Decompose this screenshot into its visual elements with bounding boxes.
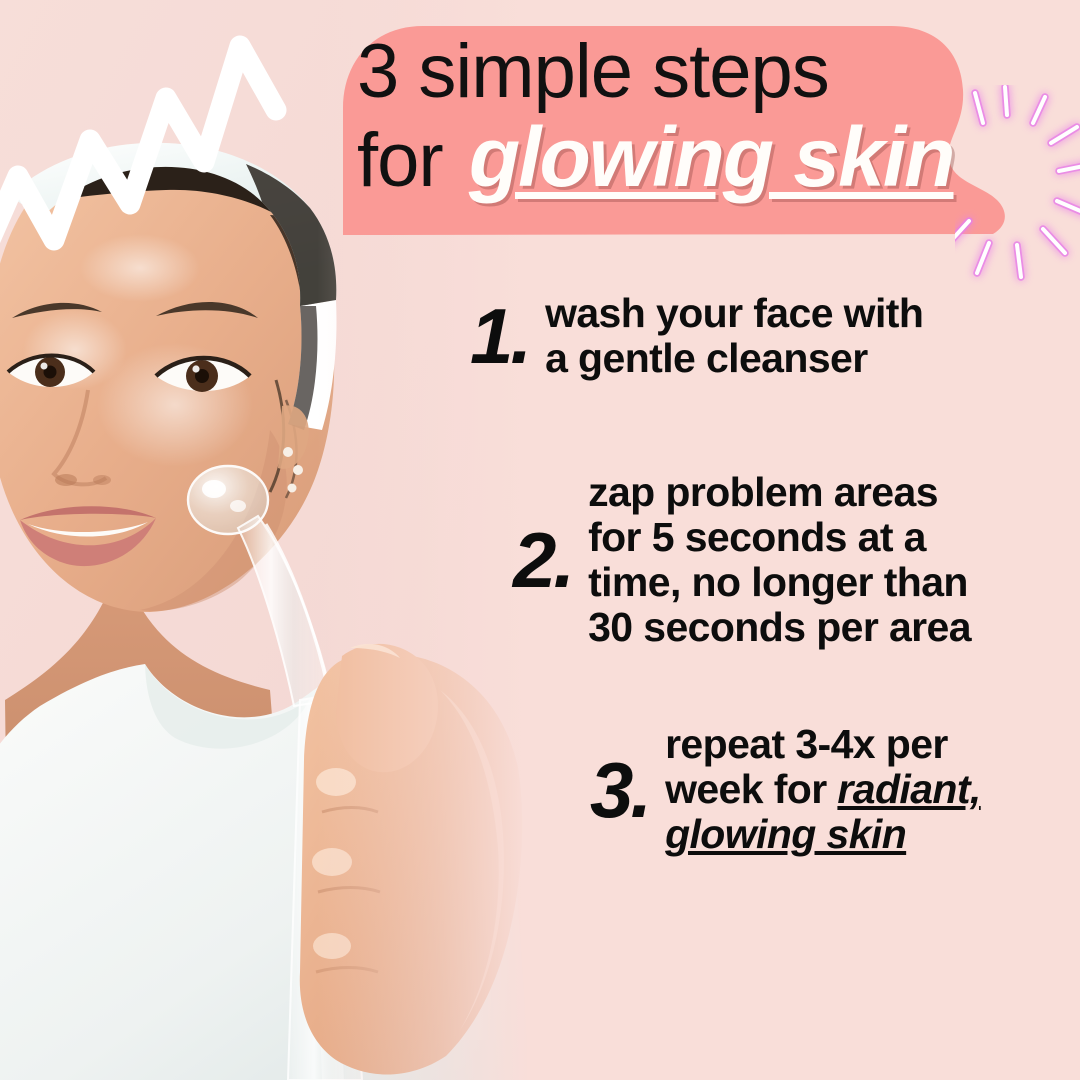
headline-line-1: 3 simple steps	[357, 30, 1023, 114]
step-3-line-2: week for radiant,	[665, 767, 981, 812]
lightning-zigzag-icon	[0, 0, 290, 290]
headline-line-2: for glowing skin	[357, 114, 1023, 204]
headline-prefix: for	[357, 118, 463, 203]
step-2: 2. zap problem areas for 5 seconds at a …	[513, 470, 971, 650]
headline-text-block: 3 simple steps for glowing skin	[343, 24, 1023, 237]
step-1-line-1: wash your face with	[545, 291, 923, 336]
poster-canvas: 3 simple steps for glowing skin	[0, 0, 1080, 1080]
step-3: 3. repeat 3-4x per week for radiant, glo…	[590, 722, 981, 857]
step-2-number: 2.	[513, 521, 572, 599]
step-3-number: 3.	[590, 751, 649, 829]
step-3-emphasis-glowing-skin: glowing skin	[665, 812, 981, 857]
step-3-line-1: repeat 3-4x per	[665, 722, 981, 767]
headline-highlight: glowing skin	[463, 110, 954, 204]
step-3-line-2-plain: week for	[665, 766, 837, 812]
sparkle-burst-icon	[955, 85, 1080, 290]
step-1-line-2: a gentle cleanser	[545, 336, 923, 381]
step-2-line-4: 30 seconds per area	[588, 605, 971, 650]
step-2-line-2: for 5 seconds at a	[588, 515, 971, 560]
step-2-line-3: time, no longer than	[588, 560, 971, 605]
step-2-line-1: zap problem areas	[588, 470, 971, 515]
step-2-text: zap problem areas for 5 seconds at a tim…	[572, 470, 971, 650]
step-3-emphasis-radiant: radiant,	[837, 766, 980, 812]
step-3-text: repeat 3-4x per week for radiant, glowin…	[649, 722, 981, 857]
step-1: 1. wash your face with a gentle cleanser	[470, 291, 923, 381]
step-1-text: wash your face with a gentle cleanser	[529, 291, 923, 381]
step-1-number: 1.	[470, 297, 529, 375]
headline-banner: 3 simple steps for glowing skin	[343, 24, 1023, 237]
